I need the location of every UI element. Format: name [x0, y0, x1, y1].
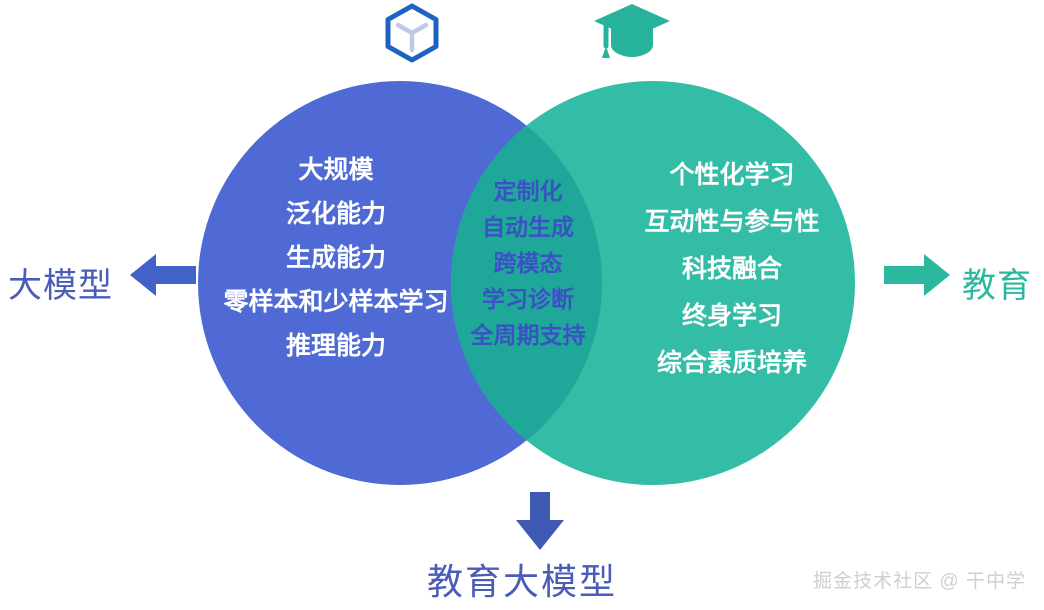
list-item: 定制化 — [464, 180, 592, 203]
left-circle-items: 大规模 泛化能力 生成能力 零样本和少样本学习 推理能力 — [200, 158, 472, 378]
list-item: 终身学习 — [604, 304, 860, 329]
list-item: 泛化能力 — [200, 202, 472, 227]
list-item: 全周期支持 — [464, 324, 592, 347]
arrow-right-icon — [884, 252, 950, 298]
left-label-large-model: 大模型 — [8, 258, 113, 307]
right-circle-items: 个性化学习 互动性与参与性 科技融合 终身学习 综合素质培养 — [604, 163, 860, 398]
list-item: 科技融合 — [604, 257, 860, 282]
watermark-text: 掘金技术社区 @ 干中学 — [813, 566, 1026, 593]
cube-hexagon-icon-svg — [378, 2, 446, 64]
arrow-left-icon — [130, 252, 196, 298]
arrow-down-icon-svg — [512, 492, 568, 550]
list-item: 个性化学习 — [604, 163, 860, 188]
list-item: 大规模 — [200, 158, 472, 183]
list-item: 跨模态 — [464, 252, 592, 275]
cube-hexagon-icon — [378, 2, 446, 64]
list-item: 推理能力 — [200, 334, 472, 359]
intersection-items: 定制化 自动生成 跨模态 学习诊断 全周期支持 — [464, 180, 592, 360]
list-item: 学习诊断 — [464, 288, 592, 311]
arrow-down-icon — [512, 492, 568, 550]
arrow-right-icon-svg — [884, 252, 950, 298]
list-item: 生成能力 — [200, 246, 472, 271]
list-item: 互动性与参与性 — [604, 210, 860, 235]
graduation-cap-icon-svg — [592, 0, 672, 62]
venn-diagram-canvas: 大规模 泛化能力 生成能力 零样本和少样本学习 推理能力 定制化 自动生成 跨模… — [0, 0, 1044, 610]
graduation-cap-icon — [592, 0, 672, 62]
right-label-education: 教育 — [962, 258, 1032, 307]
arrow-left-icon-svg — [130, 252, 196, 298]
list-item: 自动生成 — [464, 216, 592, 239]
list-item: 综合素质培养 — [604, 351, 860, 376]
list-item: 零样本和少样本学习 — [200, 290, 472, 315]
